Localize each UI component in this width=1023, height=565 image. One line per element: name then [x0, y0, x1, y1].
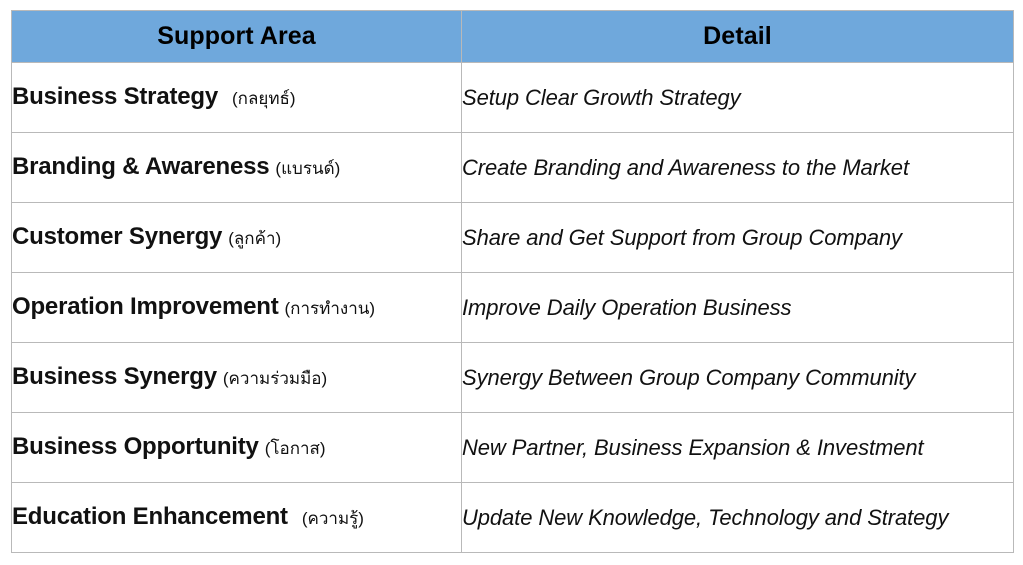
cell-support-area: Education Enhancement(ความรู้)	[12, 483, 462, 553]
support-area-table: Support Area Detail Business Strategy(กล…	[11, 10, 1014, 553]
column-header-support-area: Support Area	[12, 11, 462, 63]
table-row: Business Synergy(ความร่วมมือ) Synergy Be…	[12, 343, 1014, 413]
support-area-name-thai: (ความร่วมมือ)	[223, 369, 327, 388]
support-area-name-thai: (การทำงาน)	[285, 299, 376, 318]
table-row: Business Opportunity(โอกาส) New Partner,…	[12, 413, 1014, 483]
cell-detail: Setup Clear Growth Strategy	[462, 63, 1014, 133]
table-header: Support Area Detail	[12, 11, 1014, 63]
support-area-name-thai: (แบรนด์)	[275, 159, 340, 178]
page-root: Support Area Detail Business Strategy(กล…	[0, 0, 1023, 565]
support-area-name: Customer Synergy	[12, 223, 222, 250]
cell-detail: Improve Daily Operation Business	[462, 273, 1014, 343]
support-area-name: Business Strategy	[12, 83, 218, 110]
cell-detail: Create Branding and Awareness to the Mar…	[462, 133, 1014, 203]
support-area-name: Business Synergy	[12, 363, 217, 390]
cell-detail: Synergy Between Group Company Community	[462, 343, 1014, 413]
cell-support-area: Business Synergy(ความร่วมมือ)	[12, 343, 462, 413]
support-area-name: Branding & Awareness	[12, 153, 269, 180]
table-row: Education Enhancement(ความรู้) Update Ne…	[12, 483, 1014, 553]
cell-detail: New Partner, Business Expansion & Invest…	[462, 413, 1014, 483]
support-area-name: Education Enhancement	[12, 503, 288, 530]
cell-detail: Update New Knowledge, Technology and Str…	[462, 483, 1014, 553]
support-area-name-thai: (กลยุทธ์)	[232, 89, 296, 108]
table-header-row: Support Area Detail	[12, 11, 1014, 63]
cell-support-area: Business Strategy(กลยุทธ์)	[12, 63, 462, 133]
cell-detail: Share and Get Support from Group Company	[462, 203, 1014, 273]
support-area-name-thai: (ลูกค้า)	[228, 229, 281, 248]
cell-support-area: Operation Improvement(การทำงาน)	[12, 273, 462, 343]
support-area-name: Operation Improvement	[12, 293, 279, 320]
cell-support-area: Customer Synergy(ลูกค้า)	[12, 203, 462, 273]
support-area-name: Business Opportunity	[12, 433, 259, 460]
support-area-name-thai: (โอกาส)	[265, 439, 326, 458]
table-row: Business Strategy(กลยุทธ์) Setup Clear G…	[12, 63, 1014, 133]
table-row: Operation Improvement(การทำงาน) Improve …	[12, 273, 1014, 343]
cell-support-area: Business Opportunity(โอกาส)	[12, 413, 462, 483]
table-row: Customer Synergy(ลูกค้า) Share and Get S…	[12, 203, 1014, 273]
column-header-detail: Detail	[462, 11, 1014, 63]
support-area-name-thai: (ความรู้)	[302, 509, 364, 528]
cell-support-area: Branding & Awareness(แบรนด์)	[12, 133, 462, 203]
table-row: Branding & Awareness(แบรนด์) Create Bran…	[12, 133, 1014, 203]
table-body: Business Strategy(กลยุทธ์) Setup Clear G…	[12, 63, 1014, 553]
